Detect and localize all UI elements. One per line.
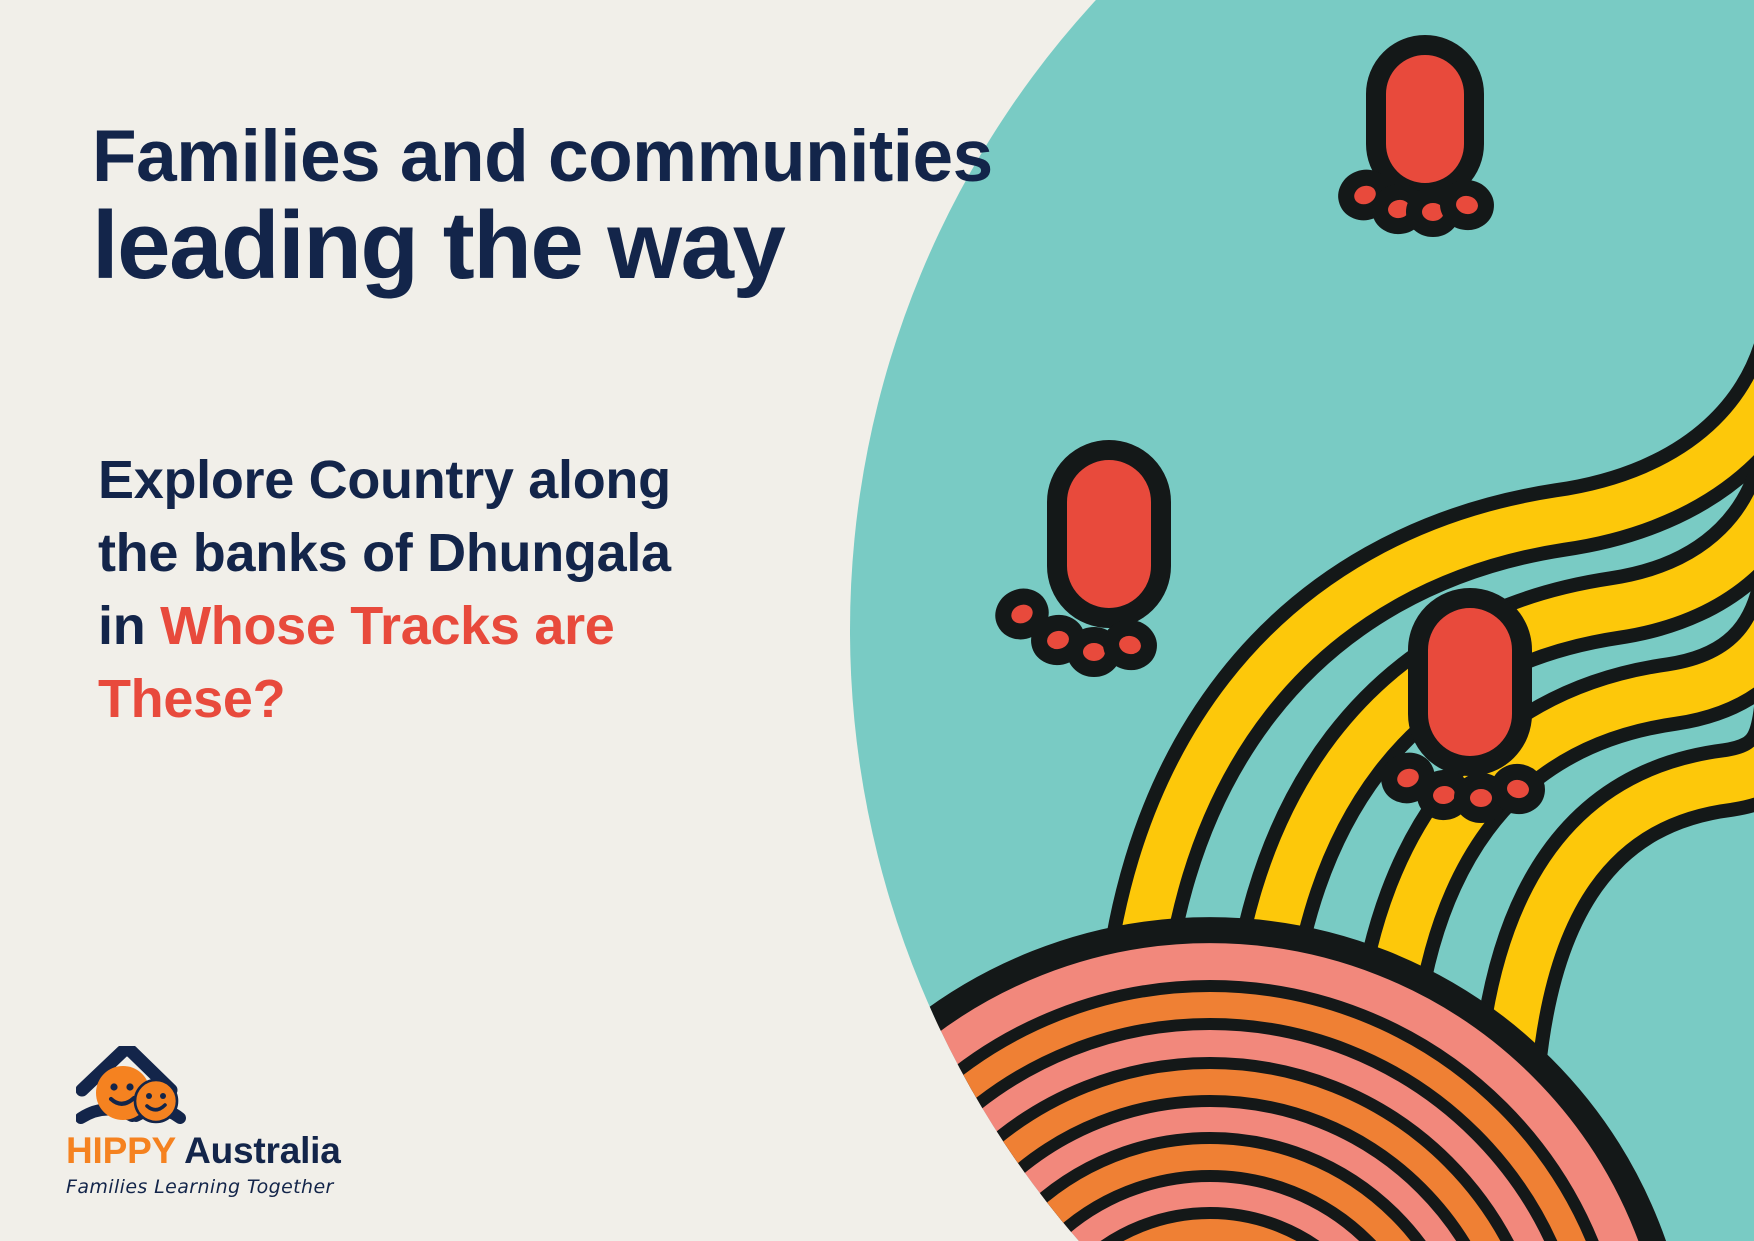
red-footprint-top [1341,45,1488,229]
headline-line-2: leading the way [92,196,1072,296]
salmon-orange-arc-band [740,930,1680,1241]
logo-word-australia: Australia [175,1130,340,1171]
subhead-block: Explore Country along the banks of Dhung… [98,444,798,736]
yellow-arc-band [1130,0,1754,1128]
red-footprint-left [998,450,1161,669]
red-footprint-right [1384,598,1539,815]
hippy-australia-logo[interactable]: HIPPY Australia Families Learning Togeth… [66,1046,356,1198]
subhead-highlight-line-1: Whose Tracks are [160,596,614,656]
headline-line-1: Families and communities [92,118,1072,196]
subhead-line-3-prefix: in [98,596,160,656]
banner-canvas: Families and communities leading the way… [0,0,1754,1241]
subhead-line-1: Explore Country along [98,450,671,510]
logo-wordmark: HIPPY Australia [66,1130,356,1172]
headline-block: Families and communities leading the way [92,118,1072,296]
logo-tagline: Families Learning Together [66,1176,356,1198]
house-with-two-children-faces-icon [76,1046,194,1128]
subhead-highlight-line-2: These? [98,669,285,729]
logo-word-hippy: HIPPY [66,1130,175,1171]
subhead-line-2: the banks of Dhungala [98,523,671,583]
